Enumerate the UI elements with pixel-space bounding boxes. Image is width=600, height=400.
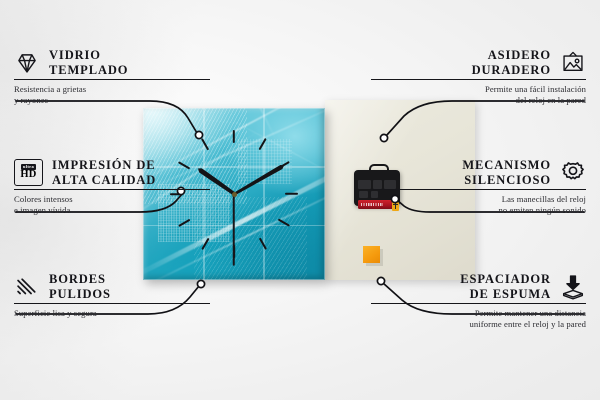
- title-line-1: VIDRIO: [49, 48, 101, 62]
- mechanism-detail: [359, 191, 368, 198]
- title-line-2: DURADERO: [472, 63, 551, 77]
- gear-icon: [560, 160, 586, 186]
- desc-line-1: Resistencia a grietas: [14, 84, 86, 94]
- title-line-2: TEMPLADO: [49, 63, 128, 77]
- mechanism-detail: [358, 180, 371, 189]
- title-line-1: BORDES: [49, 272, 106, 286]
- title-line-2: DE ESPUMA: [470, 287, 551, 301]
- foam-spacer-icon: [560, 274, 586, 300]
- feature-description: Resistencia a grietas y rayones: [14, 84, 229, 106]
- foam-spacer-pad: [363, 246, 380, 263]
- divider: [371, 189, 586, 190]
- title-line-2: ALTA CALIDAD: [52, 173, 156, 187]
- divider: [14, 303, 210, 304]
- feature-espaciador-de-espuma: ESPACIADOR DE ESPUMA Permite mantener un…: [371, 272, 586, 330]
- divider: [14, 189, 210, 190]
- desc-line-2: no emiten ningún sonido: [498, 205, 586, 215]
- diamond-icon: [14, 50, 40, 76]
- desc-line-1: Permite mantener una distancia: [475, 308, 586, 318]
- divider: [371, 79, 586, 80]
- title-line-1: ESPACIADOR: [460, 272, 551, 286]
- divider: [14, 79, 210, 80]
- feature-asidero-duradero: ASIDERO DURADERO Permite una fácil insta…: [371, 48, 586, 106]
- desc-line-1: Las manecillas del reloj: [502, 194, 586, 204]
- title-line-2: SILENCIOSO: [464, 173, 551, 187]
- picture-hanger-icon: [560, 50, 586, 76]
- infographic-stage: VIDRIO TEMPLADO Resistencia a grietas y …: [0, 0, 600, 400]
- desc-line-2: e imagen vívida: [14, 205, 70, 215]
- hd-label: HD: [20, 170, 36, 181]
- feature-title: MECANISMO SILENCIOSO: [462, 158, 551, 187]
- desc-line-1: Permite una fácil instalación: [485, 84, 586, 94]
- feature-title: IMPRESIÓN DE ALTA CALIDAD: [52, 158, 156, 187]
- title-line-1: IMPRESIÓN DE: [52, 158, 156, 172]
- feature-description: Superficie lisa y segura: [14, 308, 229, 319]
- ultra-hd-icon: ultra HD: [14, 159, 43, 186]
- divider: [371, 303, 586, 304]
- desc-line-2: uniforme entre el reloj y la pared: [470, 319, 587, 329]
- feature-title: BORDES PULIDOS: [49, 272, 111, 301]
- title-line-1: ASIDERO: [488, 48, 551, 62]
- polished-edges-icon: [14, 274, 40, 300]
- feature-bordes-pulidos: BORDES PULIDOS Superficie lisa y segura: [14, 272, 229, 319]
- desc-line-2: del reloj en la pared: [516, 95, 586, 105]
- title-line-2: PULIDOS: [49, 287, 111, 301]
- title-line-1: MECANISMO: [462, 158, 551, 172]
- feature-mecanismo-silencioso: MECANISMO SILENCIOSO Las manecillas del …: [371, 158, 586, 216]
- feature-description: Colores intensos e imagen vívida: [14, 194, 229, 216]
- feature-vidrio-templado: VIDRIO TEMPLADO Resistencia a grietas y …: [14, 48, 229, 106]
- feature-description: Las manecillas del reloj no emiten ningú…: [371, 194, 586, 216]
- feature-title: VIDRIO TEMPLADO: [49, 48, 128, 77]
- feature-impresion-alta-calidad: ultra HD IMPRESIÓN DE ALTA CALIDAD Color…: [14, 158, 229, 216]
- feature-description: Permite mantener una distancia uniforme …: [371, 308, 586, 330]
- feature-title: ESPACIADOR DE ESPUMA: [460, 272, 551, 301]
- desc-line-2: y rayones: [14, 95, 48, 105]
- feature-title: ASIDERO DURADERO: [472, 48, 551, 77]
- desc-line-1: Colores intensos: [14, 194, 73, 204]
- feature-description: Permite una fácil instalación del reloj …: [371, 84, 586, 106]
- desc-line-1: Superficie lisa y segura: [14, 308, 97, 318]
